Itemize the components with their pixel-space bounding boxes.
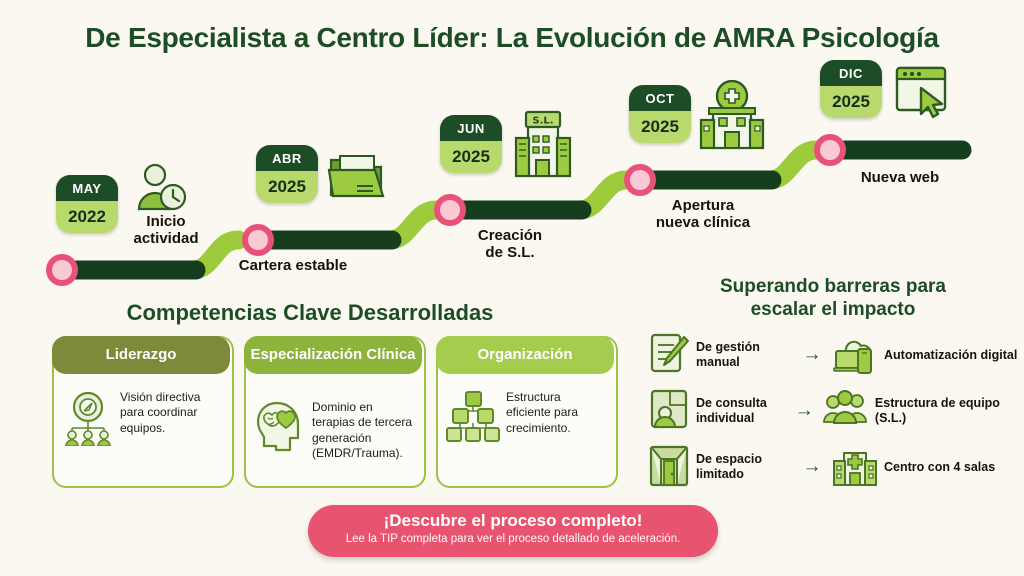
barrier-from: De gestión manual [696,340,792,370]
timeline-label-1: Inicioactividad [118,214,214,248]
badge-year: 2022 [56,201,118,233]
barriers-list: De gestión manual → Automatización digit… [648,330,1024,498]
barriers-heading: Superando barreras paraescalar el impact… [648,276,1018,322]
barrier-row-1[interactable]: De gestión manual → Automatización digit… [648,330,1024,380]
timeline-badge-1: MAY 2022 [56,175,118,233]
cloud-devices-icon [832,331,878,380]
infographic-canvas: De Especialista a Centro Líder: La Evolu… [0,0,1024,576]
cta-title: ¡Descubre el proceso completo! [308,505,718,531]
timeline-badge-5: DIC 2025 [820,60,882,118]
barrier-to: Centro con 4 salas [884,460,995,475]
barrier-from: De consulta individual [696,396,786,426]
badge-year: 2025 [629,111,691,143]
barrier-from: De espacio limitado [696,452,792,482]
doorway-icon [648,443,690,492]
badge-month: MAY [56,175,118,201]
office-building-sl-icon: S.L. [512,110,574,183]
cta-banner[interactable]: ¡Descubre el proceso completo! Lee la TI… [308,505,718,557]
clinic-building-icon [832,443,878,492]
browser-window-cursor-icon [893,62,955,125]
svg-text:S.L.: S.L. [532,116,553,127]
badge-year: 2025 [256,171,318,203]
card-body: Visión directiva para coordinar equipos. [62,390,224,451]
compass-org-chart-icon [62,390,114,451]
clinic-cross-icon [699,80,765,155]
competency-card-liderazgo[interactable]: Liderazgo Visió [52,336,234,488]
people-group-icon [823,387,869,436]
timeline-badge-4: OCT 2025 [629,85,691,143]
card-body: Estructura eficiente para crecimiento. [446,390,608,449]
competencies-heading: Competencias Clave Desarrolladas [60,300,560,326]
arrow-icon: → [792,344,832,366]
arrow-icon: → [786,400,823,422]
timeline-label-2: Cartera estable [198,258,388,275]
card-text: Dominio en terapias de tercera generació… [312,400,416,461]
card-title: Especialización Clínica [244,336,422,374]
badge-month: DIC [820,60,882,86]
timeline: MAY 2022 Inicioactividad ABR 2025 [0,62,1024,287]
timeline-badge-3: JUN 2025 [440,115,502,173]
card-title: Organización [436,336,614,374]
competency-card-organizacion[interactable]: Organización Estructura eficiente para c… [436,336,618,488]
competency-card-especializacion[interactable]: Especialización Clínica Dominio en terap… [244,336,426,488]
folder-icon [327,148,387,207]
arrow-icon: → [792,456,832,478]
card-text: Estructura eficiente para crecimiento. [506,390,608,436]
blocks-pyramid-icon [446,390,500,449]
badge-month: ABR [256,145,318,171]
barrier-row-3[interactable]: De espacio limitado → Centro con 4 salas [648,442,1024,492]
badge-month: JUN [440,115,502,141]
timeline-label-4: Aperturanueva clínica [628,198,778,232]
card-text: Visión directiva para coordinar equipos. [120,390,224,436]
barrier-row-2[interactable]: De consulta individual → Estructura de e… [648,386,1024,436]
card-title: Liderazgo [52,336,230,374]
timeline-label-5: Nueva web [820,170,980,187]
page-title: De Especialista a Centro Líder: La Evolu… [0,22,1024,54]
single-person-room-icon [648,387,690,436]
barrier-to: Estructura de equipo (S.L.) [875,396,1024,426]
person-clock-icon [133,162,189,217]
badge-year: 2025 [820,86,882,118]
competency-cards: Liderazgo Visió [52,336,618,488]
document-pencil-icon [648,331,690,380]
brain-heart-head-icon [254,400,306,457]
timeline-label-3: Creaciónde S.L. [440,228,580,262]
badge-month: OCT [629,85,691,111]
timeline-badge-2: ABR 2025 [256,145,318,203]
cta-subtitle: Lee la TIP completa para ver el proceso … [308,531,718,545]
badge-year: 2025 [440,141,502,173]
barrier-to: Automatización digital [884,348,1017,363]
card-body: Dominio en terapias de tercera generació… [254,400,416,461]
